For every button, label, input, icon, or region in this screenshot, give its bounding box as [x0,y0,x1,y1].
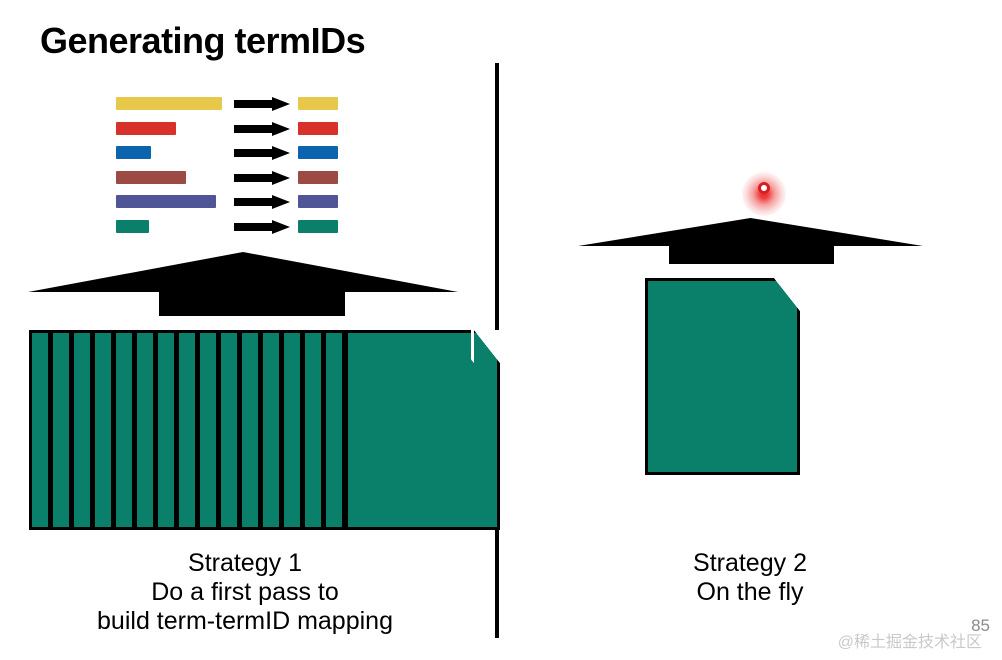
arrow-head [272,220,290,234]
term-mapping-diagram [116,94,346,242]
termid-bar-fixed-length [298,171,338,184]
arrow-right-icon [234,97,290,111]
term-bar-variable-length [116,171,186,184]
page-stack-slice [92,330,114,530]
strategy-1-caption: Strategy 1 Do a first pass to build term… [20,549,470,636]
funnel-stem [159,284,345,316]
term-row-teal [116,217,346,242]
term-bar-variable-length [116,195,216,208]
page-stack-slice [239,330,261,530]
arrow-shaft [234,149,274,157]
page-stack-slice [134,330,156,530]
caption-line-2: Do a first pass to [20,578,470,607]
scan-cursor-glow-icon [742,172,786,216]
page-stack-slice [50,330,72,530]
arrow-right-icon [234,171,290,185]
strategy-1-panel: Strategy 1 Do a first pass to build term… [0,0,495,660]
term-row-purple [116,192,346,217]
watermark: @稀土掘金技术社区 [838,628,982,652]
caption-line-3: build term-termID mapping [20,607,470,636]
page-stack-slice [281,330,303,530]
page-fold-corner-icon [645,278,800,475]
term-bar-variable-length [116,122,176,135]
arrow-right-icon [234,220,290,234]
arrow-head [272,97,290,111]
termid-bar-fixed-length [298,220,338,233]
page-stack-slice [71,330,93,530]
term-row-brown [116,168,346,193]
page-stack-slice [29,330,51,530]
page-stack-slice [218,330,240,530]
page-stack-slice [113,330,135,530]
arrow-shaft [234,223,274,231]
term-row-yellow [116,94,346,119]
termid-bar-fixed-length [298,195,338,208]
arrow-shaft [234,100,274,108]
term-row-blue [116,143,346,168]
page-stack-slice [323,330,345,530]
termid-bar-fixed-length [298,97,338,110]
term-bar-variable-length [116,97,222,110]
arrow-right-icon [234,195,290,209]
arrow-head [272,146,290,160]
arrow-shaft [234,174,274,182]
caption-line-1: Strategy 1 [20,549,470,578]
caption-line-2: On the fly [540,578,960,607]
arrow-right-icon [234,146,290,160]
page-stack-slice [302,330,324,530]
page-stack-slice [260,330,282,530]
arrow-head [272,195,290,209]
indexer-funnel-left [28,252,458,320]
arrow-head [272,171,290,185]
arrow-shaft [234,125,274,133]
strategy-2-caption: Strategy 2 On the fly [540,549,960,607]
term-bar-variable-length [116,146,151,159]
termid-bar-fixed-length [298,122,338,135]
term-row-red [116,119,346,144]
document-page-stack [29,330,470,530]
arrow-right-icon [234,122,290,136]
termid-bar-fixed-length [298,146,338,159]
slide-canvas: Generating termIDs Strategy 1 Do a first… [0,0,1002,660]
page-stack-slice [155,330,177,530]
arrow-head [272,122,290,136]
scan-cursor-icon [758,182,770,194]
page-fold-corner-icon [345,330,500,530]
indexer-funnel-right [578,218,923,266]
arrow-shaft [234,198,274,206]
term-bar-variable-length [116,220,149,233]
caption-line-1: Strategy 2 [540,549,960,578]
page-stack-slice [197,330,219,530]
page-stack-slice [176,330,198,530]
funnel-stem [669,240,834,264]
